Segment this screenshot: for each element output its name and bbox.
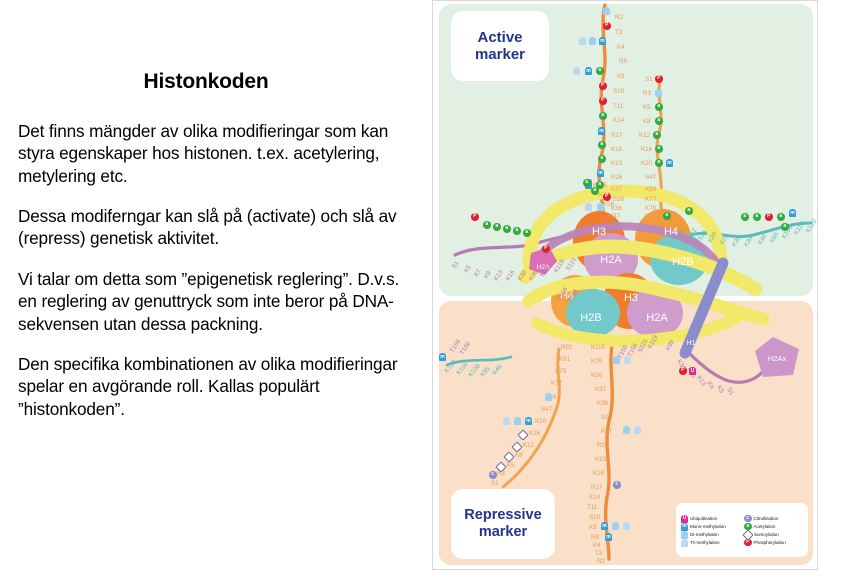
svg-text:K7: K7	[473, 267, 483, 278]
svg-text:K120: K120	[805, 218, 818, 234]
svg-text:S47: S47	[541, 406, 553, 413]
svg-text:K4: K4	[593, 542, 601, 549]
svg-text:K36: K36	[597, 400, 609, 407]
svg-text:T11: T11	[587, 504, 598, 511]
svg-text:K14: K14	[613, 117, 625, 124]
legend-item-di-methylation: Di-methylation	[681, 531, 741, 539]
paragraph-1: Det finns mängder av olika modifieringar…	[18, 120, 422, 187]
svg-text:S28: S28	[613, 196, 625, 203]
svg-text:K5: K5	[507, 462, 515, 469]
histone-label-h2a-upper: H2A	[600, 254, 622, 266]
legend-item-ubiquitination: U Ubiquitination	[681, 515, 741, 523]
svg-text:T3: T3	[615, 29, 623, 36]
mod-chip-phosphorylation: P	[603, 193, 611, 201]
mod-chip-tri-methylation	[623, 522, 630, 530]
svg-text:R92: R92	[561, 344, 573, 351]
svg-text:K20: K20	[641, 160, 653, 167]
svg-text:S47: S47	[645, 174, 657, 181]
mod-chip-acetylation: a	[596, 67, 604, 75]
mod-chip-acetylation: a	[741, 213, 749, 221]
repressive-marker-line-1: Repressive	[464, 507, 541, 524]
mod-chip-phosphorylation: P	[599, 97, 607, 105]
legend-item-mono-methylation: m Mono-methylation	[681, 523, 741, 531]
mod-chip-di-methylation	[623, 426, 630, 434]
mod-chip-phosphorylation: P	[542, 245, 550, 253]
histone-label-h3-lower: H3	[624, 292, 638, 304]
mod-chip-acetylation: a	[777, 213, 785, 221]
svg-text:K85: K85	[769, 231, 781, 245]
svg-text:K16: K16	[641, 146, 653, 153]
legend-label: Ubiquitination	[690, 516, 717, 521]
mod-chip-acetylation: a	[655, 159, 663, 167]
svg-text:K27: K27	[611, 186, 623, 193]
legend-label: Sumoylation	[754, 532, 779, 537]
legend-item-phosphorylation: P Phosphorylation	[744, 539, 804, 547]
repressive-marker-label: Repressive marker	[451, 489, 555, 559]
mod-chip-phosphorylation: P	[599, 82, 607, 90]
svg-text:K79: K79	[555, 368, 567, 375]
mod-chip-acetylation: a	[663, 212, 671, 220]
svg-text:K79: K79	[645, 205, 657, 212]
mod-chip-acetylation: a	[781, 223, 789, 231]
mod-chip-phosphorylation: P	[471, 213, 479, 221]
legend-item-acetylation: a Acetylation	[744, 523, 804, 531]
legend-item-tri-methylation: Tri-methylation	[681, 539, 741, 547]
svg-text:S1: S1	[725, 386, 735, 397]
mod-chip-di-methylation	[603, 7, 610, 15]
mod-chip-acetylation: a	[685, 207, 693, 215]
mod-chip-di-methylation	[655, 89, 662, 97]
svg-text:K46: K46	[491, 363, 504, 376]
svg-text:R8: R8	[591, 534, 599, 541]
tri-methylation-icon	[681, 539, 688, 547]
svg-text:K108: K108	[467, 362, 482, 378]
svg-text:R2: R2	[615, 14, 623, 21]
mod-chip-acetylation: a	[503, 225, 511, 233]
svg-text:S28: S28	[601, 414, 613, 421]
svg-text:R92: R92	[651, 220, 663, 227]
legend-label: Acetylation	[754, 524, 776, 529]
svg-text:K13: K13	[493, 269, 505, 283]
svg-text:K18: K18	[611, 146, 623, 153]
svg-text:K56: K56	[603, 201, 615, 208]
svg-text:K9: K9	[483, 269, 493, 280]
svg-text:K79: K79	[591, 358, 603, 365]
mod-chip-di-methylation	[514, 417, 521, 425]
mod-chip-acetylation: a	[655, 103, 663, 111]
svg-text:K12: K12	[523, 442, 535, 449]
paragraph-3: Vi talar om detta som ”epigenetisk regle…	[18, 268, 422, 335]
active-h2a-residues: S1 K5 K7 K9 K13 K15 K36 K38 K99 K119 S12…	[451, 256, 579, 282]
svg-text:K15: K15	[505, 269, 517, 283]
mod-chip-mono-methylation: m	[599, 37, 606, 45]
mod-chip-tri-methylation	[634, 426, 641, 434]
mod-chip-phosphorylation: P	[603, 22, 611, 30]
h2ax-label-text: H2Ax	[768, 354, 787, 363]
mod-chip-phosphorylation: P	[679, 367, 687, 375]
paragraph-2: Dessa modiferngar kan slå på (activate) …	[18, 205, 422, 250]
repressive-marker-line-2: marker	[479, 524, 527, 541]
mod-chip-mono-methylation: m	[525, 417, 532, 425]
mod-chip-acetylation: a	[523, 229, 531, 237]
di-methylation-icon	[681, 531, 688, 539]
mod-chip-tri-methylation	[579, 37, 586, 45]
mod-chip-acetylation: a	[655, 117, 663, 125]
mod-chip-mono-methylation: m	[439, 353, 446, 361]
active-marker-label: Active marker	[451, 11, 549, 81]
svg-text:K77: K77	[645, 196, 657, 203]
histone-modification-figure: H3 H4 H2A H2B H4 H3 H2B H2A H1 H2Ax H2A	[432, 0, 818, 570]
svg-text:K77: K77	[551, 380, 563, 387]
nucleosome-diagram: H3 H4 H2A H2B H4 H3 H2B H2A H1 H2Ax H2A	[433, 1, 818, 570]
svg-text:K37: K37	[609, 213, 621, 220]
svg-text:K27: K27	[601, 428, 613, 435]
legend-label: Tri-methylation	[690, 540, 719, 545]
svg-text:K18: K18	[593, 470, 605, 477]
svg-text:S10: S10	[589, 514, 601, 521]
svg-text:K9: K9	[705, 380, 715, 391]
slide: Histonkoden Det finns mängder av olika m…	[0, 0, 848, 582]
svg-text:S1: S1	[451, 259, 461, 270]
mod-chip-acetylation: a	[591, 187, 599, 195]
svg-text:K37: K37	[595, 386, 607, 393]
svg-text:K5: K5	[643, 104, 651, 111]
mod-chip-phosphorylation: P	[765, 213, 773, 221]
svg-text:S1: S1	[645, 76, 653, 83]
mod-chip-acetylation: a	[483, 221, 491, 229]
legend-label: Citrullination	[754, 516, 779, 521]
ubiquitination-icon: U	[681, 515, 688, 523]
mod-chip-tri-methylation	[503, 417, 510, 425]
svg-text:K5: K5	[715, 384, 725, 395]
svg-text:R26: R26	[597, 442, 609, 449]
mod-chip-acetylation: a	[653, 131, 661, 139]
svg-text:K5: K5	[463, 263, 473, 274]
modification-legend: U Ubiquitination c Citrullination m Mono…	[676, 503, 808, 557]
histone-label-h2b-upper: H2B	[672, 256, 693, 268]
mod-chip-mono-methylation: m	[598, 127, 605, 135]
mod-chip-di-methylation	[589, 37, 596, 45]
mod-chip-mono-methylation: m	[585, 67, 592, 75]
svg-text:K4: K4	[617, 44, 625, 51]
svg-text:K91: K91	[559, 356, 571, 363]
svg-text:K13: K13	[695, 374, 707, 388]
mod-chip-mono-methylation: m	[789, 209, 796, 217]
active-marker-line-2: marker	[475, 46, 525, 63]
histone-label-h4-upper: H4	[664, 226, 678, 238]
legend-label: Phosphorylation	[754, 540, 786, 545]
mod-chip-di-methylation	[597, 203, 604, 211]
mod-chip-acetylation: a	[598, 141, 606, 149]
histone-label-h2b-lower: H2B	[580, 312, 601, 324]
mod-chip-acetylation: a	[598, 155, 606, 163]
mod-chip-mono-methylation: m	[597, 169, 604, 177]
svg-text:R17: R17	[611, 132, 623, 139]
page-title: Histonkoden	[18, 70, 422, 94]
svg-text:K115: K115	[591, 344, 606, 351]
mod-chip-citrullination: c	[613, 481, 621, 489]
svg-text:K91: K91	[645, 213, 657, 220]
svg-text:R17: R17	[591, 484, 603, 491]
svg-text:K23: K23	[611, 160, 623, 167]
svg-text:K56: K56	[591, 372, 603, 379]
svg-text:K9: K9	[617, 73, 625, 80]
svg-text:K59: K59	[645, 186, 657, 193]
svg-text:S1: S1	[491, 480, 499, 487]
mod-chip-acetylation: a	[493, 223, 501, 231]
mod-chip-phosphorylation: P	[655, 75, 663, 83]
legend-label: Mono-methylation	[690, 524, 726, 529]
histone-label-h2a-lower: H2A	[646, 312, 668, 324]
h1-label-text: H1	[687, 340, 696, 347]
svg-text:K8: K8	[515, 452, 523, 459]
active-marker-line-1: Active	[477, 29, 522, 46]
legend-item-citrullination: c Citrullination	[744, 515, 804, 523]
svg-text:K9: K9	[589, 524, 597, 531]
mod-chip-ubiquitination: U	[689, 367, 696, 375]
svg-text:R8: R8	[619, 58, 627, 65]
slide-text-column: Histonkoden Det finns mängder av olika m…	[0, 0, 432, 582]
mod-chip-di-methylation	[612, 522, 619, 530]
mod-chip-acetylation: a	[513, 227, 521, 235]
svg-text:T3: T3	[595, 550, 603, 557]
mono-methylation-icon: m	[681, 523, 688, 531]
mod-chip-mono-methylation: m	[666, 159, 673, 167]
histone-label-h3-upper: H3	[592, 226, 606, 238]
mod-chip-mono-methylation: m	[601, 522, 608, 530]
svg-text:R26: R26	[611, 174, 623, 181]
paragraph-4: Den specifika kombinationen av olika mod…	[18, 353, 422, 420]
mod-chip-di-methylation	[545, 393, 552, 401]
svg-text:R3: R3	[643, 90, 651, 97]
svg-text:S10: S10	[613, 88, 625, 95]
mod-chip-mono-methylation: m	[605, 533, 612, 541]
mod-chip-citrullination: c	[489, 471, 497, 479]
mod-chip-acetylation: a	[583, 179, 591, 187]
svg-text:T11: T11	[613, 103, 624, 110]
mod-chip-tri-methylation	[585, 203, 592, 211]
mod-chip-acetylation: a	[599, 112, 607, 120]
svg-text:K12: K12	[639, 132, 651, 139]
svg-text:K20: K20	[535, 418, 547, 425]
svg-text:K14: K14	[589, 494, 601, 501]
mod-chip-tri-methylation	[624, 356, 631, 364]
citrullination-icon: c	[744, 515, 752, 523]
mod-chip-acetylation: a	[753, 213, 761, 221]
svg-text:K8: K8	[643, 118, 651, 125]
legend-label: Di-methylation	[690, 532, 719, 537]
svg-text:K16: K16	[529, 430, 541, 437]
svg-text:R2: R2	[597, 558, 605, 565]
legend-item-sumoylation: Sumoylation	[744, 531, 804, 539]
mod-chip-di-methylation	[613, 356, 620, 364]
svg-text:K23: K23	[595, 456, 607, 463]
mod-chip-tri-methylation	[573, 67, 580, 75]
mod-chip-acetylation: a	[655, 145, 663, 153]
